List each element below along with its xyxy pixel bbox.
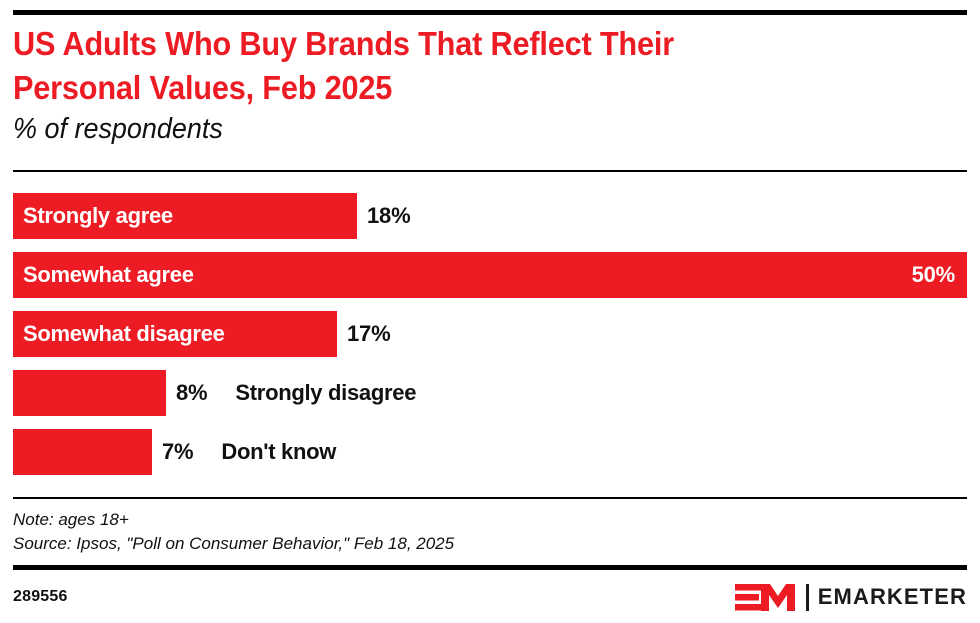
chart-subtitle: % of respondents xyxy=(13,114,900,146)
bar-strongly-agree: Strongly agree xyxy=(13,193,357,239)
bar-strongly-disagree xyxy=(13,370,166,416)
bar-row: Somewhat agree 50% xyxy=(13,252,967,298)
subtitle-divider-rule xyxy=(13,170,967,172)
logo-divider xyxy=(806,584,809,611)
source-text: Source: Ipsos, "Poll on Consumer Behavio… xyxy=(13,532,967,556)
note-divider-rule xyxy=(13,497,967,499)
bar-row: 7% Don't know xyxy=(13,429,967,475)
bar-value: 50% xyxy=(912,262,967,288)
bar-value: 8% xyxy=(166,370,207,416)
chart-title: US Adults Who Buy Brands That Reflect Th… xyxy=(13,22,900,110)
bar-row: Somewhat disagree 17% xyxy=(13,311,967,357)
note-text: Note: ages 18+ xyxy=(13,508,967,532)
bar-value: 7% xyxy=(152,429,193,475)
chart-card: US Adults Who Buy Brands That Reflect Th… xyxy=(0,0,980,623)
bar-dont-know xyxy=(13,429,152,475)
bar-value: 17% xyxy=(337,311,390,357)
bar-row: Strongly agree 18% xyxy=(13,193,967,239)
chart-notes: Note: ages 18+ Source: Ipsos, "Poll on C… xyxy=(13,508,967,556)
footer-divider-rule xyxy=(13,565,967,570)
em-monogram-icon xyxy=(735,583,797,611)
chart-footer: 289556 EMARKETER xyxy=(13,580,967,614)
bar-row: 8% Strongly disagree xyxy=(13,370,967,416)
bar-label: Strongly disagree xyxy=(207,370,416,416)
bar-label: Strongly agree xyxy=(13,203,173,229)
chart-header: US Adults Who Buy Brands That Reflect Th… xyxy=(13,22,967,146)
emarketer-logo[interactable]: EMARKETER xyxy=(735,582,967,612)
chart-id: 289556 xyxy=(13,588,68,606)
bar-label: Somewhat disagree xyxy=(13,321,225,347)
bar-somewhat-agree: Somewhat agree 50% xyxy=(13,252,967,298)
bar-value: 18% xyxy=(357,193,410,239)
top-divider-rule xyxy=(13,10,967,15)
bar-label: Don't know xyxy=(193,429,336,475)
logo-wordmark: EMARKETER xyxy=(818,584,967,610)
bar-chart-plot-area: Strongly agree 18% Somewhat agree 50% So… xyxy=(13,193,967,483)
bar-label: Somewhat agree xyxy=(13,262,194,288)
bar-somewhat-disagree: Somewhat disagree xyxy=(13,311,337,357)
